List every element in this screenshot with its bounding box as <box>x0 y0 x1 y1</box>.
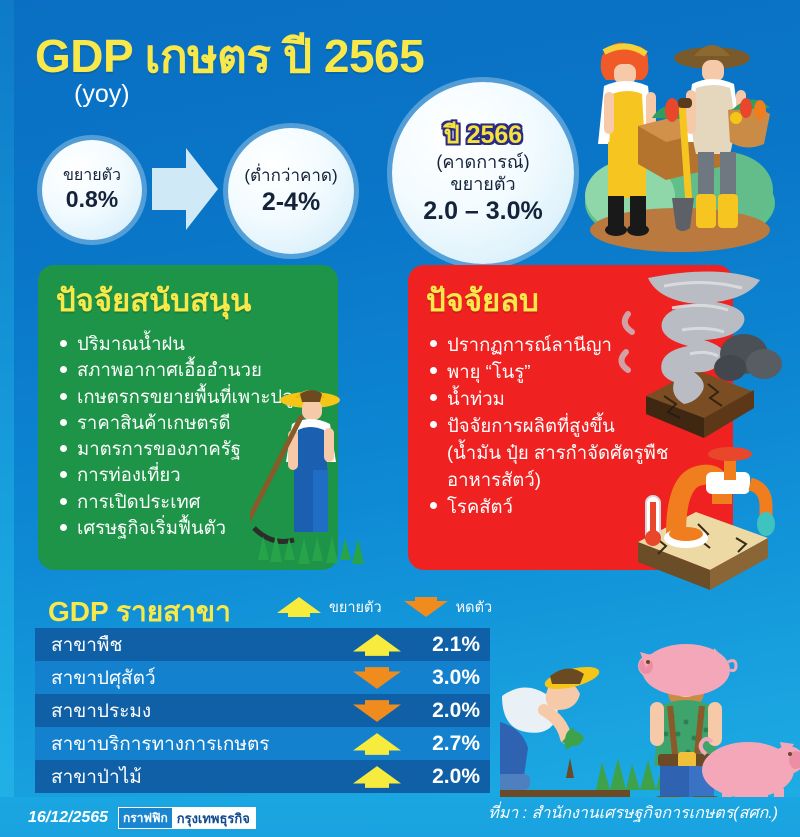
stat-circle-next-year: ปี 2566 (คาดการณ์) ขยายตัว 2.0 – 3.0% <box>392 82 574 264</box>
stat-circle-next-year-year: ปี 2566 <box>444 121 522 149</box>
up-arrow-icon <box>346 633 408 657</box>
publish-date: 16/12/2565 <box>28 809 108 827</box>
source-credit: ที่มา : สำนักงานเศรษฐกิจการเกษตร(สศก.) <box>488 801 778 826</box>
stat-circle-next-year-label: (คาดการณ์) <box>436 152 529 172</box>
table-row: สาขาพืช 2.1% <box>35 628 490 661</box>
livestock-and-planting-illustration <box>500 618 800 813</box>
publisher-logo-name: กรุงเทพธุรกิจ <box>172 808 255 828</box>
stat-circle-forecast-prev-value: 2-4% <box>262 188 320 216</box>
right-arrow-icon <box>152 146 218 232</box>
up-arrow-icon <box>346 765 408 789</box>
stat-circle-current: ขยายตัว 0.8% <box>42 140 142 240</box>
sector-value: 2.7% <box>408 732 480 756</box>
down-arrow-icon <box>403 596 449 618</box>
sector-name: สาขาประมง <box>51 696 346 726</box>
farmer-with-rake-illustration <box>250 378 370 573</box>
publisher-logo-tag: กราฟฟิก <box>119 808 172 828</box>
drought-pipe-illustration <box>628 438 794 590</box>
sector-value: 2.0% <box>408 699 480 723</box>
sector-value: 2.0% <box>408 765 480 789</box>
publisher-logo: กราฟฟิก กรุงเทพธุรกิจ <box>118 807 256 829</box>
sector-name: สาขาพืช <box>51 630 346 660</box>
table-row: สาขาบริการทางการเกษตร 2.7% <box>35 727 490 760</box>
table-row: สาขาประมง 2.0% <box>35 694 490 727</box>
infographic-page: GDP เกษตร ปี 2565 (yoy) ขยายตัว 0.8% (ต่… <box>0 0 800 837</box>
page-subtitle: (yoy) <box>74 80 130 109</box>
positive-factors-title: ปัจจัยสนับสนุน <box>38 265 338 327</box>
sector-name: สาขาปศุสัตว์ <box>51 663 346 693</box>
legend-label-up: ขยายตัว <box>329 596 382 619</box>
stat-circle-current-value: 0.8% <box>66 187 118 213</box>
table-row: สาขาปศุสัตว์ 3.0% <box>35 661 490 694</box>
down-arrow-icon <box>346 666 408 690</box>
sector-name: สาขาบริการทางการเกษตร <box>51 729 346 759</box>
sector-name: สาขาป่าไม้ <box>51 762 346 792</box>
sectors-table: สาขาพืช 2.1% สาขาปศุสัตว์ 3.0% สาขาประมง… <box>35 628 490 793</box>
list-item: ปริมาณน้ำฝน <box>60 331 338 357</box>
stat-circle-forecast-prev: (ต่ำกว่าคาด) 2-4% <box>228 128 354 254</box>
stat-circle-next-year-value: 2.0 – 3.0% <box>423 197 543 225</box>
down-arrow-icon <box>346 699 408 723</box>
farmers-illustration <box>560 18 800 268</box>
up-arrow-icon <box>346 732 408 756</box>
sectors-legend: ขยายตัว หดตัว <box>276 594 492 620</box>
legend-label-down: หดตัว <box>456 596 493 619</box>
tornado-illustration <box>612 268 792 448</box>
sector-value: 2.1% <box>408 633 480 657</box>
up-arrow-icon <box>276 596 322 618</box>
sector-value: 3.0% <box>408 666 480 690</box>
table-row: สาขาป่าไม้ 2.0% <box>35 760 490 793</box>
stat-circle-forecast-prev-label: (ต่ำกว่าคาด) <box>244 166 337 185</box>
stat-circle-current-label: ขยายตัว <box>63 167 121 185</box>
stat-circle-next-year-label2: ขยายตัว <box>450 174 515 194</box>
left-edge-accent <box>0 0 14 837</box>
